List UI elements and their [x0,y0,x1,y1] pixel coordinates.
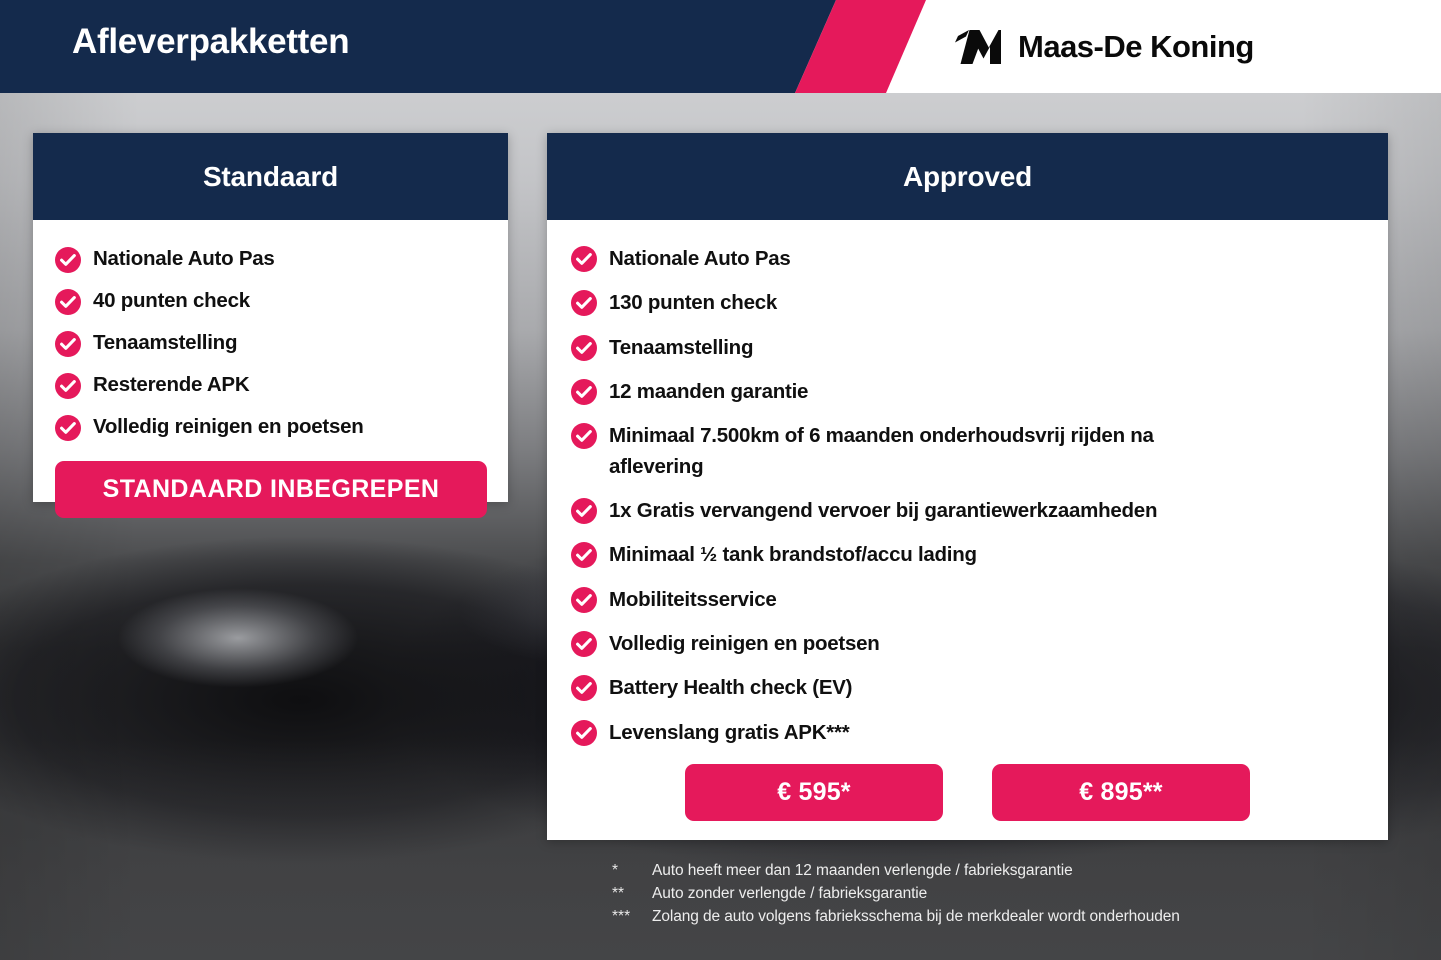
price-button-row: € 595* € 895** [547,764,1388,821]
header-bar: Afleverpakketten Maas-De Koning [0,0,1441,93]
feature-label: Volledig reinigen en poetsen [93,414,364,439]
feature-label: Volledig reinigen en poetsen [609,629,880,659]
feature-label: Battery Health check (EV) [609,673,852,703]
check-circle-icon [571,631,597,657]
feature-label: Tenaamstelling [609,333,753,363]
feature-label: Levenslang gratis APK*** [609,718,849,748]
price-button-595[interactable]: € 595* [685,764,943,821]
list-item: Tenaamstelling [55,330,508,357]
feature-label: Nationale Auto Pas [609,244,791,274]
footnote-text: Auto heeft meer dan 12 maanden verlengde… [652,862,1073,880]
list-item: Tenaamstelling [571,333,1388,363]
footnote-row: ** Auto zonder verlengde / fabrieksgaran… [612,885,1402,903]
footnote-row: *** Zolang de auto volgens fabrieksschem… [612,908,1402,926]
check-circle-icon [571,675,597,701]
check-circle-icon [571,379,597,405]
check-circle-icon [55,331,81,357]
check-circle-icon [571,290,597,316]
list-item: Nationale Auto Pas [571,244,1388,274]
list-item: Nationale Auto Pas [55,246,508,273]
check-circle-icon [55,373,81,399]
feature-list-approved: Nationale Auto Pas 130 punten check Tena… [547,220,1388,748]
feature-label: 12 maanden garantie [609,377,808,407]
list-item: 1x Gratis vervangend vervoer bij garanti… [571,496,1388,526]
check-circle-icon [55,289,81,315]
check-circle-icon [571,335,597,361]
check-circle-icon [571,587,597,613]
footnote-marker: *** [612,908,652,926]
footnote-marker: ** [612,885,652,903]
package-card-approved: Approved Nationale Auto Pas 130 punten c… [547,133,1388,840]
feature-label: Mobiliteitsservice [609,585,777,615]
brand-logo: Maas-De Koning [955,24,1254,70]
check-circle-icon [571,423,597,449]
feature-label: Minimaal ½ tank brandstof/accu lading [609,540,977,570]
feature-label: 130 punten check [609,288,777,318]
check-circle-icon [571,720,597,746]
check-circle-icon [571,246,597,272]
list-item: Resterende APK [55,372,508,399]
footnote-text: Auto zonder verlengde / fabrieksgarantie [652,885,927,903]
maas-de-koning-m-logo-icon [955,30,1001,64]
list-item: Minimaal ½ tank brandstof/accu lading [571,540,1388,570]
list-item: Levenslang gratis APK*** [571,718,1388,748]
feature-label: 40 punten check [93,288,250,313]
feature-label: 1x Gratis vervangend vervoer bij garanti… [609,496,1157,526]
list-item: Volledig reinigen en poetsen [571,629,1388,659]
check-circle-icon [55,247,81,273]
list-item: Mobiliteitsservice [571,585,1388,615]
footnote-marker: * [612,862,652,880]
price-button-895[interactable]: € 895** [992,764,1250,821]
footnote-row: * Auto heeft meer dan 12 maanden verleng… [612,862,1402,880]
check-circle-icon [571,498,597,524]
poster-root: Afleverpakketten Maas-De Koning Standaar… [0,0,1441,960]
card-title-approved: Approved [547,133,1388,220]
feature-list-standaard: Nationale Auto Pas 40 punten check Tenaa… [33,220,508,441]
card-title-standaard: Standaard [33,133,508,220]
list-item: Volledig reinigen en poetsen [55,414,508,441]
check-circle-icon [571,542,597,568]
check-circle-icon [55,415,81,441]
footnotes: * Auto heeft meer dan 12 maanden verleng… [612,862,1402,931]
page-title: Afleverpakketten [72,22,349,62]
brand-name: Maas-De Koning [1018,29,1254,65]
feature-label: Minimaal 7.500km of 6 maanden onderhouds… [609,421,1249,482]
feature-label: Tenaamstelling [93,330,237,355]
feature-label: Resterende APK [93,372,249,397]
card-body-approved: Nationale Auto Pas 130 punten check Tena… [547,220,1388,840]
standaard-inbegrepen-button[interactable]: STANDAARD INBEGREPEN [55,461,487,518]
package-card-standaard: Standaard Nationale Auto Pas 40 punten c… [33,133,508,502]
list-item: 12 maanden garantie [571,377,1388,407]
footnote-text: Zolang de auto volgens fabrieksschema bi… [652,908,1180,926]
card-body-standaard: Nationale Auto Pas 40 punten check Tenaa… [33,220,508,502]
list-item: 40 punten check [55,288,508,315]
list-item: Battery Health check (EV) [571,673,1388,703]
list-item: Minimaal 7.500km of 6 maanden onderhouds… [571,421,1388,482]
feature-label: Nationale Auto Pas [93,246,275,271]
list-item: 130 punten check [571,288,1388,318]
